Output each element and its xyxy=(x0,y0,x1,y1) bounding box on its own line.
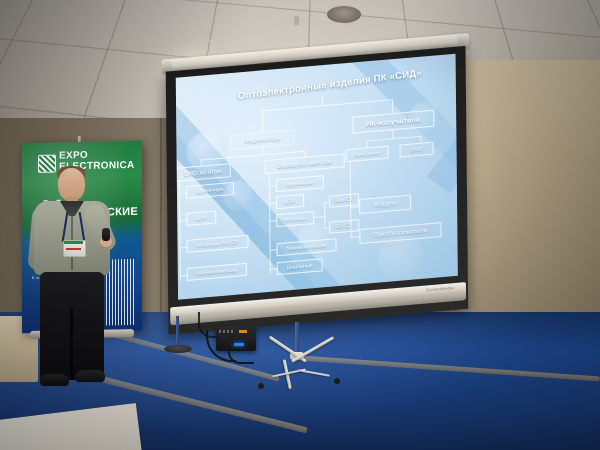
node-mid-matrix: Матрицы xyxy=(276,211,314,227)
node-mid-czi: ЦЗИ xyxy=(276,194,304,209)
connector xyxy=(314,216,324,218)
connector xyxy=(262,99,392,111)
left-branch-spine xyxy=(179,181,181,279)
slide-title: Оптоэлектронные изделия ПК «СИД» xyxy=(214,65,446,106)
node-mid-mnemo: Мнемонические xyxy=(277,238,337,256)
projection-surface: Оптоэлектронные изделия ПК «СИД» ИК-излу… xyxy=(176,54,458,300)
node-left-single: единичные xyxy=(186,182,234,199)
node-left-mnemo: Мнемонические xyxy=(187,263,247,281)
node-mid-scale: Шкальные xyxy=(277,258,323,275)
projector-screen-assembly: Оптоэлектронные изделия ПК «СИД» ИК-излу… xyxy=(162,50,477,338)
node-smd-mount: SMD монтаж xyxy=(176,163,231,182)
node-lead-mount: Выводной монтаж xyxy=(265,153,345,174)
connector xyxy=(322,95,323,105)
screen-border: Оптоэлектронные изделия ПК «СИД» ИК-излу… xyxy=(166,46,469,335)
connector xyxy=(262,110,263,132)
connector xyxy=(392,99,393,113)
node-left-matrix: Матрицы без СУ xyxy=(186,235,248,253)
node-lead-type: Выводные xyxy=(346,146,389,163)
presenter xyxy=(28,168,114,400)
tripod-foot xyxy=(258,383,264,389)
slide-content: Оптоэлектронные изделия ПК «СИД» ИК-излу… xyxy=(176,54,458,300)
connector xyxy=(392,130,393,138)
node-left-czi: ЦЗИ xyxy=(186,210,216,226)
speaker-stand-base xyxy=(164,345,192,353)
name-badge-header xyxy=(64,241,83,244)
node-converters: Преобразователи xyxy=(359,222,441,244)
presenter-left-shoe xyxy=(40,374,69,386)
conference-room-photo: EXPO ELECTRONICA X СКИЕ E ro xyxy=(0,0,600,450)
power-cable xyxy=(228,348,254,364)
node-modules: Модули xyxy=(359,195,411,214)
trouser-leg-split xyxy=(70,308,73,380)
mid-branch-spine xyxy=(269,174,271,274)
node-with-cu: Со СУ xyxy=(329,219,359,234)
av-device-led-orange xyxy=(239,330,247,333)
presenter-right-shoe xyxy=(75,370,105,382)
presenter-remote-clicker xyxy=(102,228,110,241)
screen-hanging-hook xyxy=(294,16,299,25)
connector xyxy=(324,202,325,228)
name-badge-text xyxy=(66,248,81,250)
node-mid-single: единичные xyxy=(276,175,324,192)
ceiling-light-off-right xyxy=(327,6,361,23)
node-smd-type: SMD xyxy=(399,142,433,158)
tripod-foot xyxy=(334,378,340,384)
